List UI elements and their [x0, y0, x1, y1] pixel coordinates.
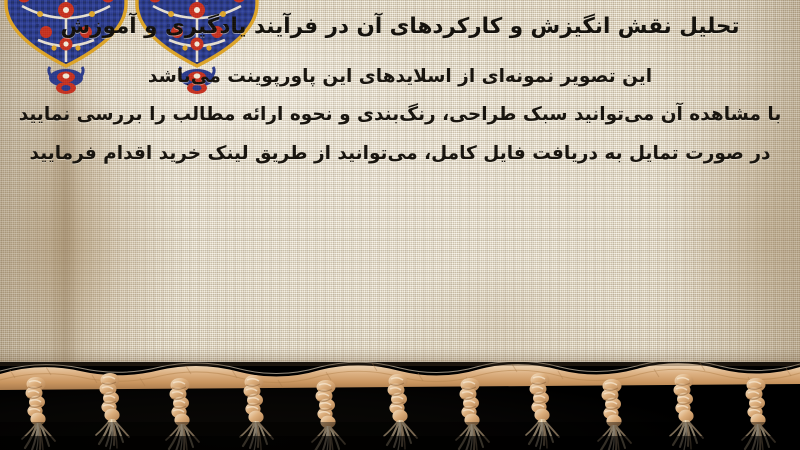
presentation-slide: تحلیل نقش انگیزش و کارکردهای آن در فرآین…: [0, 0, 800, 450]
slide-body: این تصویر نمونه‌ای از اسلایدهای این پاور…: [15, 68, 785, 164]
fringe-dropshadow: [0, 350, 800, 366]
body-line: این تصویر نمونه‌ای از اسلایدهای این پاور…: [15, 68, 785, 87]
body-line: با مشاهده آن می‌توانید سبک طراحی، رنگ‌بن…: [15, 106, 785, 125]
body-line: در صورت تمایل به دریافت فایل کامل، می‌تو…: [15, 145, 785, 164]
slide-title: تحلیل نقش انگیزش و کارکردهای آن در فرآین…: [20, 11, 780, 44]
carpet-fringe-border: [0, 350, 800, 450]
